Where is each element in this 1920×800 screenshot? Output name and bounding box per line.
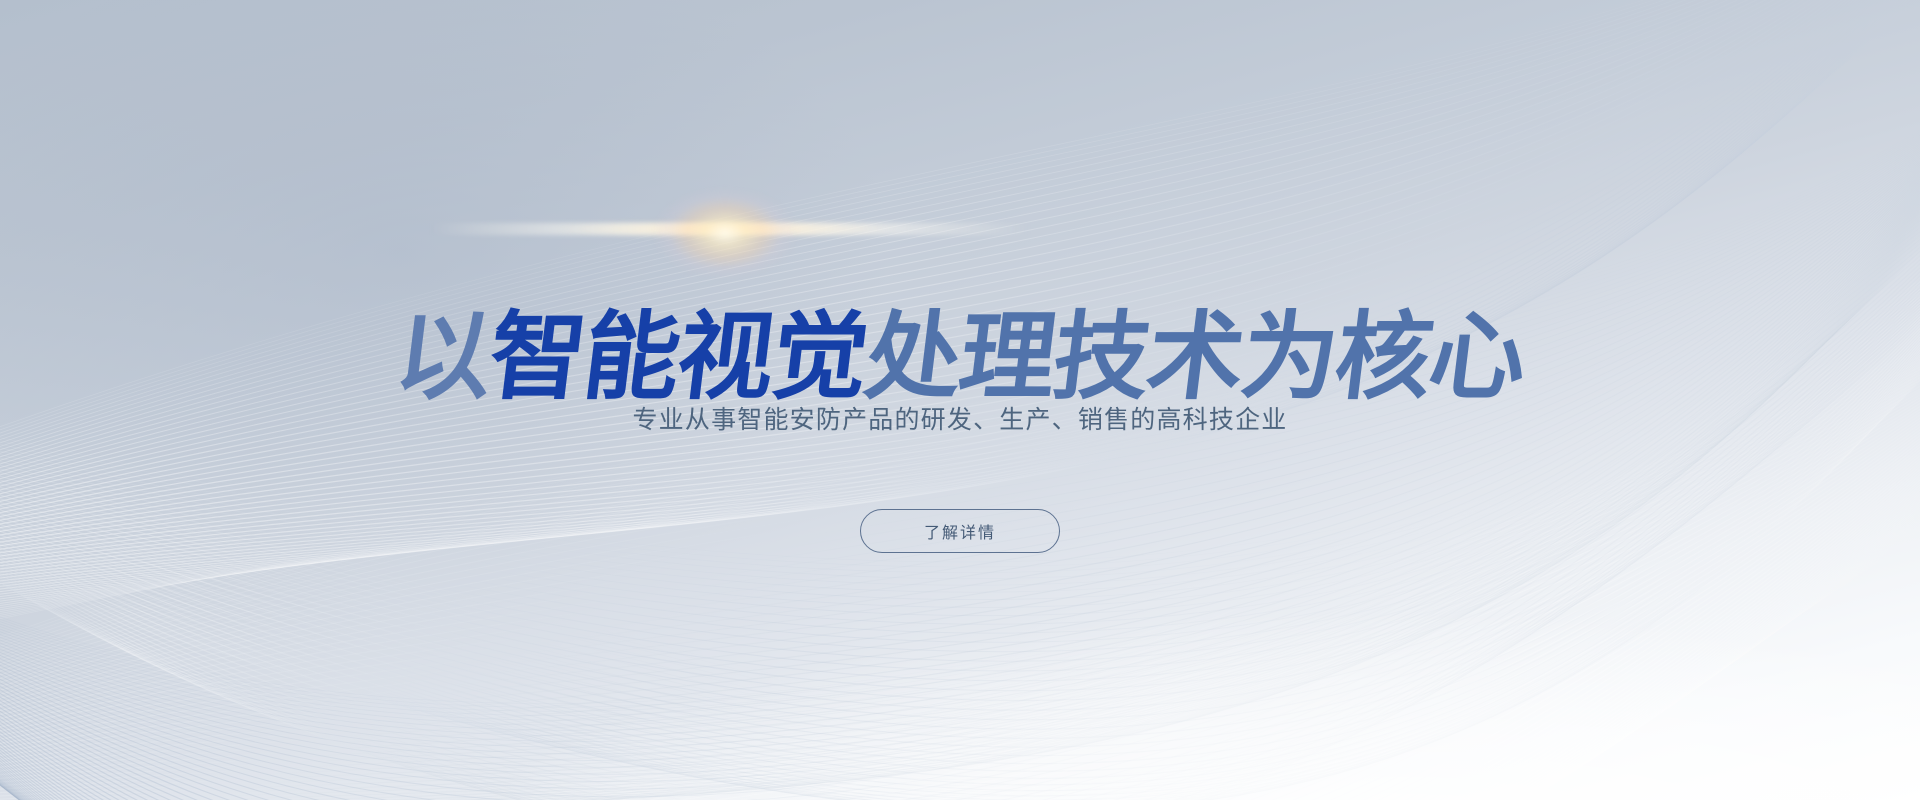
title-segment-1: 以 [390, 309, 496, 405]
learn-more-button[interactable]: 了解详情 [860, 509, 1060, 553]
hero-content: 以智能视觉处理技术为核心 专业从事智能安防产品的研发、生产、销售的高科技企业 了… [0, 0, 1920, 800]
title-segment-2: 智能视觉 [484, 309, 872, 405]
cta-container: 了解详情 [0, 509, 1920, 553]
page-subtitle: 专业从事智能安防产品的研发、生产、销售的高科技企业 [0, 400, 1920, 436]
hero-banner: 以智能视觉处理技术为核心 专业从事智能安防产品的研发、生产、销售的高科技企业 了… [0, 0, 1920, 800]
title-segment-3: 处理技术为核心 [860, 309, 1530, 405]
page-title: 以智能视觉处理技术为核心 [0, 309, 1920, 405]
